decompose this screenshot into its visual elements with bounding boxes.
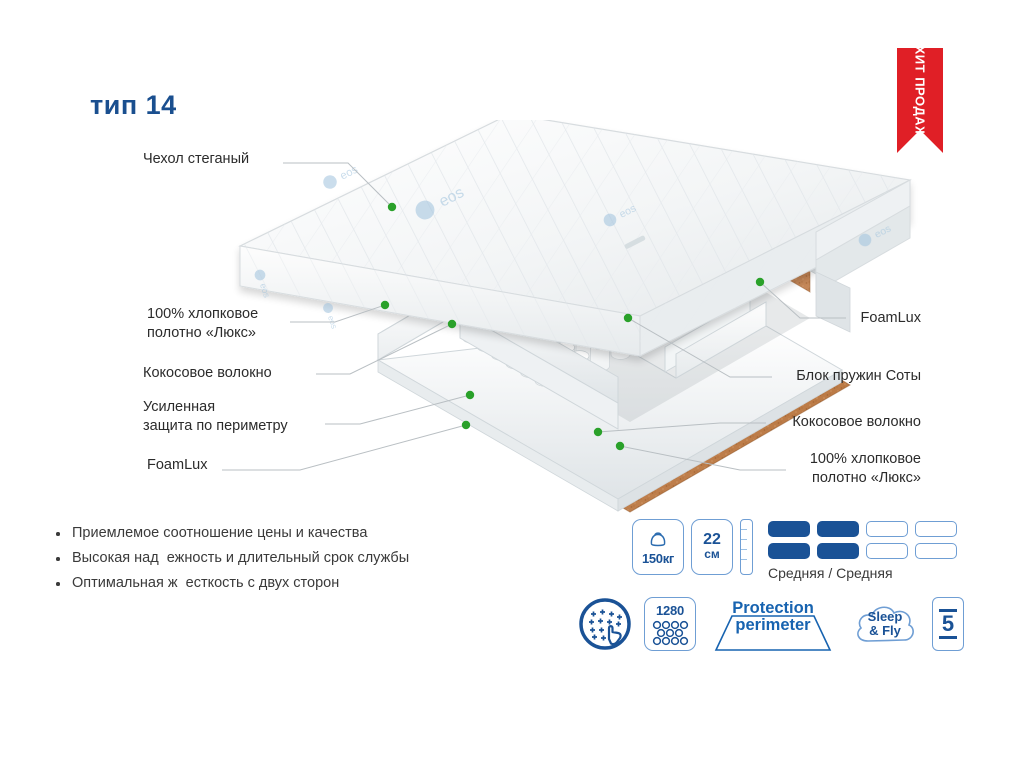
firmness-cell	[866, 521, 908, 537]
firmness-cell	[915, 521, 957, 537]
benefit-item: Оптимальная ж есткость с двух сторон	[52, 571, 522, 596]
firmness-cell	[768, 521, 810, 537]
warranty-years-badge: 5	[932, 597, 964, 651]
height-value: 22	[703, 532, 721, 547]
height-unit: см	[704, 547, 720, 562]
firmness-cell	[915, 543, 957, 559]
product-spec-sheet: тип 14 ХИТ ПРОДАЖ	[0, 0, 1024, 768]
firmness-row-side-b	[768, 543, 957, 559]
max-weight-value: 150кг	[642, 551, 674, 566]
protection-perimeter-label: Protection perimeter	[732, 600, 814, 634]
spring-count-value: 1280	[656, 603, 684, 618]
height-icon: 22 см	[691, 519, 733, 575]
firmness-indicator: Средняя / Средняя	[768, 521, 957, 581]
callout-cotton-cloth-top: 100% хлопковое полотно «Люкс»	[147, 305, 258, 343]
firmness-cell	[768, 543, 810, 559]
callout-reinforced-perimeter: Усиленная защита по периметру	[143, 398, 288, 436]
callout-coconut-fiber-bottom: Кокосовое волокно	[706, 413, 921, 432]
svg-text:eos: eos	[338, 163, 360, 182]
feature-badges-row: 1280 Protection perimeter Sleep & Fly	[578, 596, 964, 652]
benefits-list: Приемлемое соотношение цены и качества В…	[52, 521, 522, 596]
spring-dots-icon	[651, 620, 689, 646]
callout-spring-block: Блок пружин Соты	[706, 367, 921, 386]
kettlebell-icon	[647, 528, 669, 550]
page-title: тип 14	[90, 90, 177, 121]
warranty-bar-bottom	[939, 636, 957, 639]
firmness-cell	[817, 543, 859, 559]
callout-cover-quilted: Чехол стеганый	[143, 150, 249, 169]
firmness-row-side-a	[768, 521, 957, 537]
firmness-cell	[817, 521, 859, 537]
firmness-cell	[866, 543, 908, 559]
benefit-item: Высокая над ежность и длительный срок сл…	[52, 546, 522, 571]
ruler-icon	[740, 519, 753, 575]
independent-springs-icon	[578, 597, 632, 651]
sleep-and-fly-badge: Sleep & Fly	[850, 597, 920, 651]
firmness-label: Средняя / Средняя	[768, 565, 957, 581]
callout-coconut-fiber-top: Кокосовое волокно	[143, 364, 272, 383]
callout-cotton-cloth-bottom: 100% хлопковое полотно «Люкс»	[706, 450, 921, 488]
protection-perimeter-badge: Protection perimeter	[708, 596, 838, 652]
spec-icons-row: 150кг 22 см	[632, 519, 753, 575]
svg-text:eos: eos	[326, 315, 339, 330]
benefit-item: Приемлемое соотношение цены и качества	[52, 521, 522, 546]
sleep-and-fly-label: Sleep & Fly	[868, 610, 903, 638]
callout-foamlux-left: FoamLux	[147, 456, 207, 475]
warranty-years-value: 5	[942, 613, 954, 635]
callout-foamlux-right: FoamLux	[706, 309, 921, 328]
spring-count-badge: 1280	[644, 597, 696, 651]
max-weight-icon: 150кг	[632, 519, 684, 575]
